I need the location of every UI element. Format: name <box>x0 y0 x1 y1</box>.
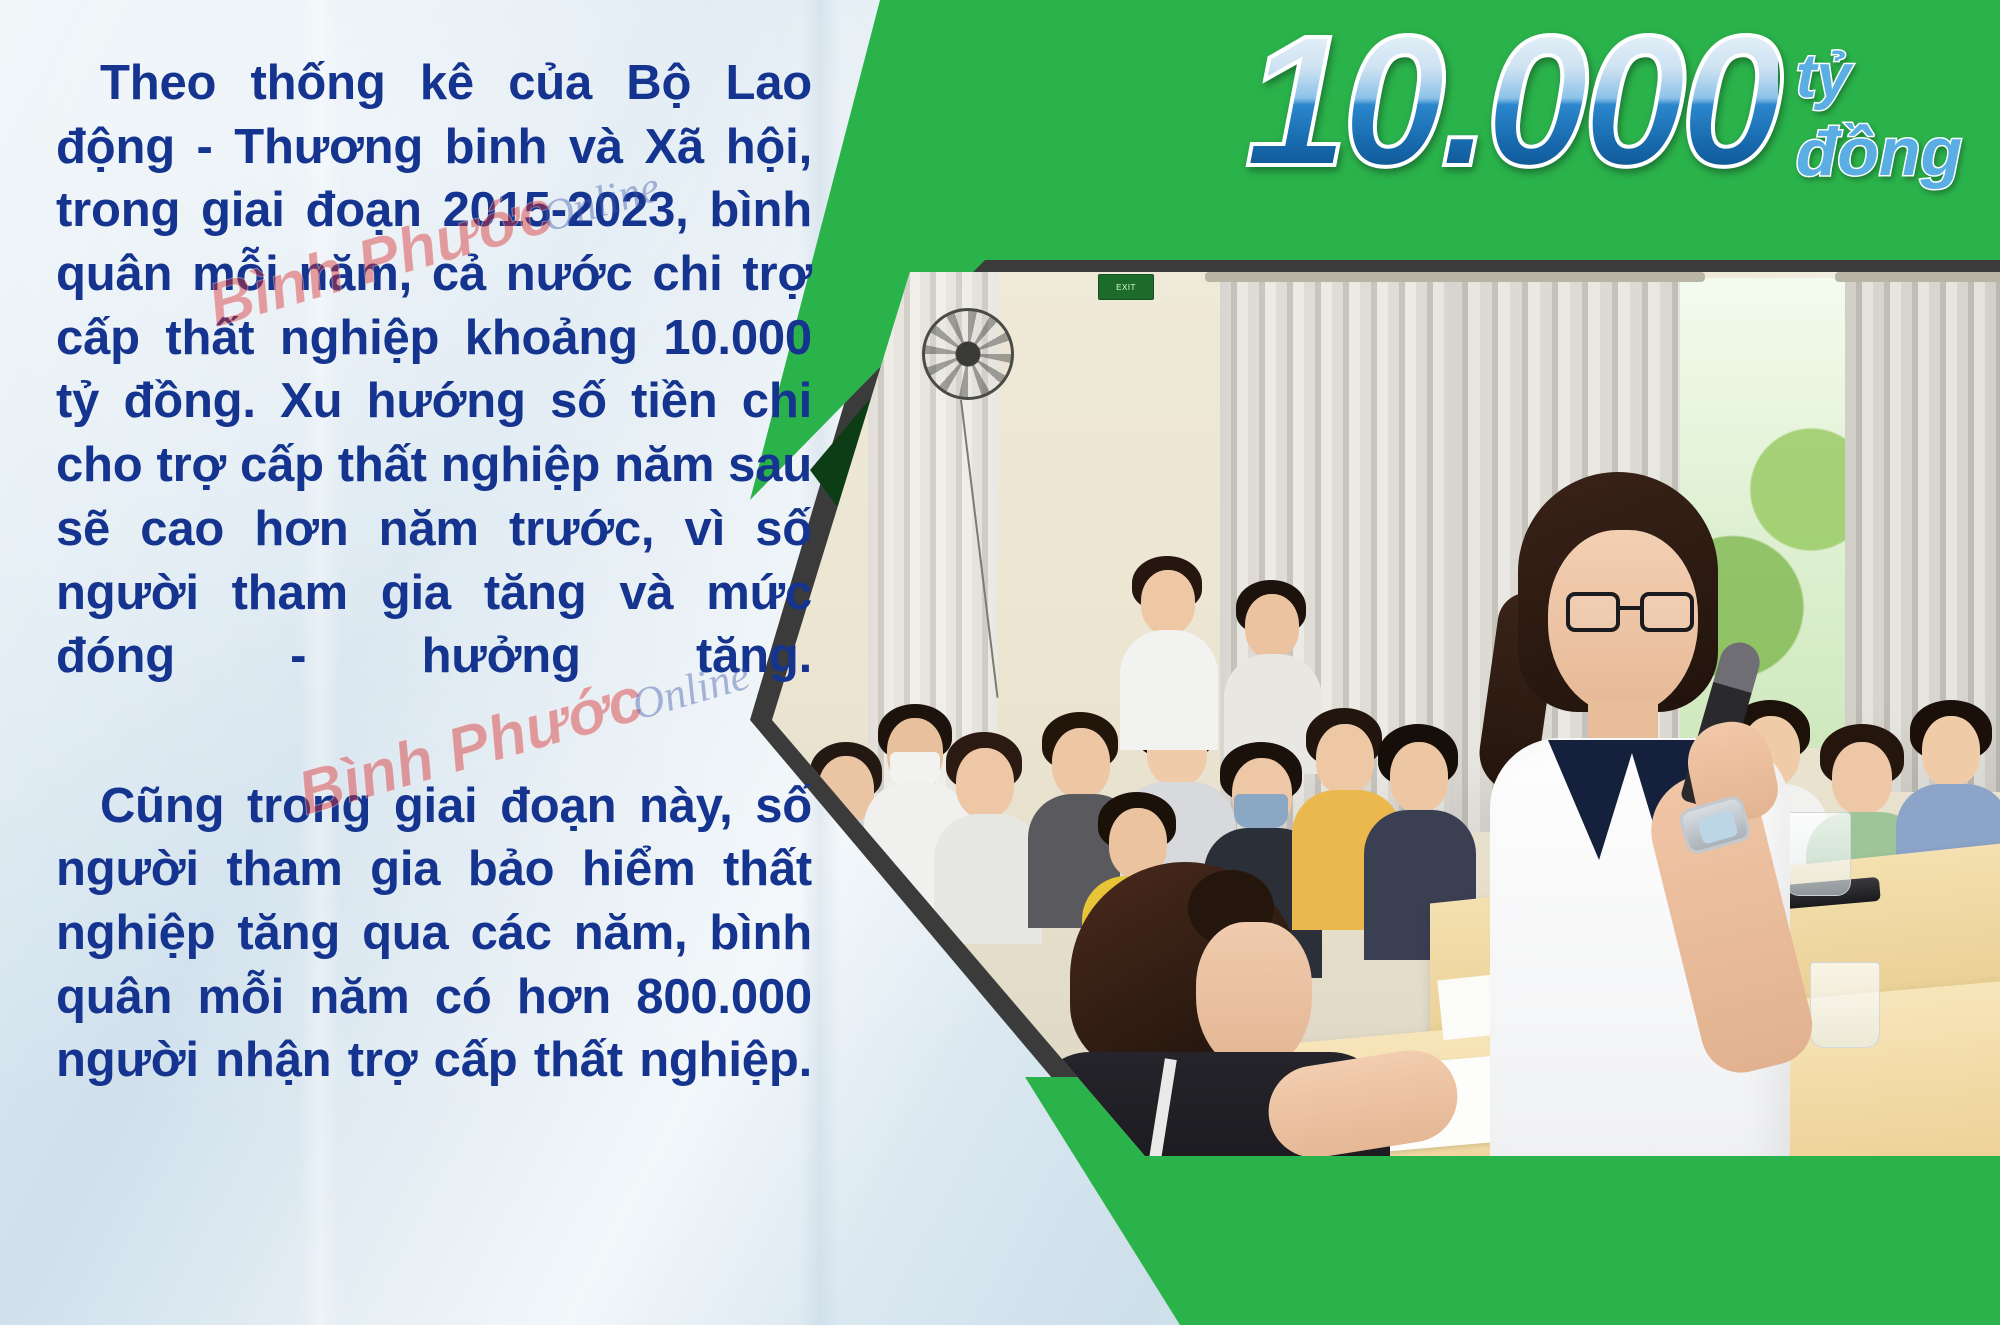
curtain-rod-b <box>1835 272 2000 282</box>
article-paragraph: Cũng trong giai đoạn này, số người tham … <box>56 775 812 1157</box>
foreground-face <box>1196 922 1312 1072</box>
article-paragraph: Theo thống kê của Bộ Lao động - Thương b… <box>56 52 812 753</box>
speaker-woman <box>1430 472 1850 1156</box>
exit-sign: EXIT <box>1098 274 1154 300</box>
wall-fan-icon <box>922 308 1014 400</box>
meeting-photo: EXIT <box>750 272 2000 1156</box>
infographic-canvas: EXIT <box>0 0 2000 1325</box>
curtain-rod-a <box>1205 272 1705 282</box>
headline-unit-line1: tỷ <box>1796 46 1851 108</box>
headline-unit-line2: đồng <box>1796 118 1962 186</box>
headline-unit: tỷ đồng <box>1796 46 1962 186</box>
article-text-column: Theo thống kê của Bộ Lao động - Thương b… <box>0 0 860 1325</box>
exit-sign-label: EXIT <box>1116 283 1136 292</box>
headline-number: 10.000 <box>1245 16 1778 187</box>
headline-group: 10.000 tỷ đồng <box>1245 16 1962 187</box>
eyeglasses-icon <box>1566 592 1694 632</box>
